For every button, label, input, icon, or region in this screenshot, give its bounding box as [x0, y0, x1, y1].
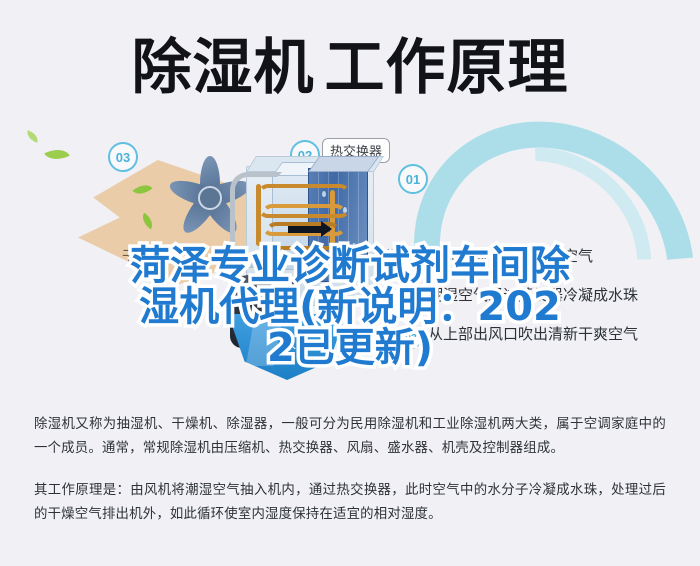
dehumidifier-diagram: 干燥空气 03 02 01 热交换器: [0, 118, 700, 390]
step-list: 01 下部进风口吸进潮湿空气 02 潮湿空气经过蒸发器冷凝成水珠 03 从上部出…: [400, 248, 696, 365]
hx-fin: [358, 169, 359, 281]
list-item: 01 下部进风口吸进潮湿空气: [400, 248, 696, 271]
water-droplet: [352, 243, 356, 249]
title-text: 除湿机工作原理: [132, 38, 569, 98]
water-tank-label: 水箱: [284, 336, 310, 353]
step-number-01: 01: [400, 249, 422, 271]
diagram-marker-01: 01: [398, 164, 428, 194]
step-number-02: 02: [400, 288, 422, 310]
airflow-arrow-icon: [288, 226, 322, 233]
page-root: 除湿机工作原理 干燥空气 03 02 01 热交换器: [0, 0, 700, 566]
heat-exchanger-top: [308, 156, 380, 172]
fan-hub: [198, 186, 222, 210]
list-item: 02 潮湿空气经过蒸发器冷凝成水珠: [400, 287, 696, 310]
paragraph-2: 其工作原理是：由风机将潮湿空气抽入机内，通过热交换器，此时空气中的水分子冷凝成水…: [34, 478, 666, 526]
leaf-icon: [25, 130, 40, 143]
list-item: 03 从上部出风口吹出清新干爽空气: [400, 326, 696, 349]
hx-fin: [348, 169, 349, 281]
step-number-03: 03: [400, 327, 422, 349]
step-text-02: 潮湿空气经过蒸发器冷凝成水珠: [428, 287, 638, 306]
compressor-top: [230, 274, 296, 292]
leaf-icon: [44, 144, 69, 165]
title-part-2: 工作原理: [325, 33, 569, 103]
article-body: 除湿机又称为抽湿机、干燥机、除湿器，一般可分为民用除湿机和工业除湿机两大类，属于…: [0, 412, 700, 526]
title-part-1: 除湿机: [132, 33, 315, 103]
step-text-01: 下部进风口吸进潮湿空气: [428, 248, 593, 267]
paragraph-1: 除湿机又称为抽湿机、干燥机、除湿器，一般可分为民用除湿机和工业除湿机两大类，属于…: [34, 412, 666, 460]
diagram-marker-03: 03: [108, 142, 138, 172]
dry-air-label: 干燥空气: [122, 246, 182, 266]
step-text-03: 从上部出风口吹出清新干爽空气: [428, 326, 638, 345]
page-title: 除湿机工作原理: [0, 28, 700, 108]
water-droplet: [325, 257, 329, 263]
